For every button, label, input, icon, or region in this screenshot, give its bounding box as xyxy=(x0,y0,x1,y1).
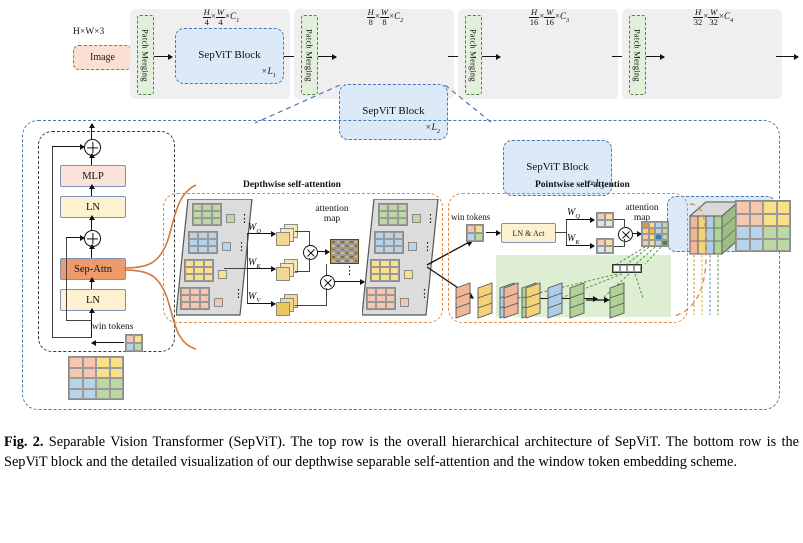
arrow-stage4-output xyxy=(776,56,798,57)
patch-merging-label: Patch Merging xyxy=(469,29,479,82)
dw-token-pink xyxy=(214,298,223,307)
image-input-box: Image xyxy=(73,45,132,70)
figure-caption: Fig. 2. Separable Vision Transformer (Se… xyxy=(4,432,799,473)
pointwise-title: Pointwise self-attention xyxy=(535,180,630,190)
dw-out-window-yellow xyxy=(370,259,400,282)
dw-token-yellow xyxy=(218,270,227,279)
dw-out-token-yellow xyxy=(404,270,413,279)
pw-wq-label: WQ xyxy=(567,207,580,220)
dw-q-to-mul-h xyxy=(295,231,310,232)
dw-arrow-to-v xyxy=(247,303,275,304)
ln-act-box: LN & Act xyxy=(501,223,556,243)
pw-mul-to-attnmap xyxy=(632,233,641,234)
stage-1-dim-label: H4×W4×C1 xyxy=(155,8,287,26)
depthwise-title: Depthwise self-attention xyxy=(243,180,341,190)
pw-k-to-mul-v xyxy=(624,239,625,247)
dw-token-green xyxy=(226,214,235,223)
arrow-stage2-pm-to-block xyxy=(318,56,336,57)
stage-3-patch-merging: Patch Merging xyxy=(465,15,482,95)
arrow-stage3-pm-to-block xyxy=(482,56,500,57)
dw-out-window-green xyxy=(378,203,408,226)
dw-out-token-green xyxy=(412,214,421,223)
pw-wk-label: WK xyxy=(567,233,580,246)
pw-win-tokens-label: win tokens xyxy=(451,212,490,222)
patch-merging-label: Patch Merging xyxy=(633,29,643,82)
residual-skip-outer-bottom xyxy=(52,337,92,338)
pw-weighted-slabs xyxy=(500,280,630,320)
dw-v-to-mul2-h xyxy=(295,305,327,306)
dw-arrow-to-q xyxy=(247,233,275,234)
residual-skip-inner-vertical xyxy=(66,237,67,321)
dw-input-dots-3: ⋮ xyxy=(233,290,244,299)
dw-out-window-pink xyxy=(366,287,396,310)
win-tokens-2x2-block xyxy=(125,334,143,352)
arrow-lnb-to-attn xyxy=(91,278,92,289)
dw-v-to-mul2-v xyxy=(326,288,327,306)
stage-2-patch-merging: Patch Merging xyxy=(301,15,318,95)
dw-mul2-to-output xyxy=(334,281,364,282)
residual-skip-outer-vertical xyxy=(52,146,53,338)
win-tokens-label-block: win tokens xyxy=(92,322,133,332)
pw-win-tokens-2x2 xyxy=(466,224,484,242)
output-window-grid xyxy=(735,200,791,252)
input-dim-label: H×W×3 xyxy=(73,27,104,37)
dw-out-window-blue xyxy=(374,231,404,254)
stage-2-dim-label: H8×W8×C2 xyxy=(319,8,451,26)
dw-window-blue xyxy=(188,231,218,254)
arrow-mlp-to-add xyxy=(91,154,92,165)
arrow-add-to-ln-top xyxy=(91,216,92,230)
dw-output-dots-3: ⋮ xyxy=(419,290,430,299)
dw-output-dots-1: ⋮ xyxy=(425,215,436,224)
dw-mul-to-attnmap xyxy=(317,251,329,252)
dw-arrow-to-k xyxy=(247,268,275,269)
figure-caption-text: Separable Vision Transformer (SepViT). T… xyxy=(4,434,799,470)
residual-skip-inner-bottom xyxy=(66,320,92,321)
dw-attnmap-to-mul2 xyxy=(326,264,327,275)
stage-4-dim-label: H32×W32×C4 xyxy=(647,8,779,26)
residual-skip-inner-top xyxy=(66,237,84,238)
dw-attention-map xyxy=(330,239,359,264)
pw-arrow-to-lnact xyxy=(486,232,500,233)
arrow-stage4-pm-to-block xyxy=(646,56,664,57)
figure-number: Fig. 2. xyxy=(4,434,43,450)
stage-1-sepvit-block: SepViT Block ×L1 xyxy=(175,28,284,84)
stage-1-block-title: SepViT Block xyxy=(176,49,283,61)
dw-window-pink xyxy=(180,287,210,310)
dw-attention-map-label: attentionmap xyxy=(303,205,361,225)
figure-root: H×W×3 Image Patch Merging H4×W4×C1 SepVi… xyxy=(0,0,803,543)
arrow-attn-to-add-bottom xyxy=(91,245,92,258)
arrow-wintokens-into-stream xyxy=(92,342,124,343)
stage-4-patch-merging: Patch Merging xyxy=(629,15,646,95)
dw-input-dots-2: ⋮ xyxy=(236,243,247,252)
pw-qk-multiply xyxy=(618,227,633,242)
pw-attention-map xyxy=(641,221,669,247)
dw-out-token-pink xyxy=(400,298,409,307)
patch-merging-label: Patch Merging xyxy=(141,29,151,82)
stage-3-dim-label: H16×W16×C3 xyxy=(483,8,615,26)
dw-token-blue xyxy=(222,242,231,251)
stage-1-block-repeat: ×L1 xyxy=(261,67,276,79)
dw-k-to-mul-h xyxy=(295,271,310,272)
dw-attn-v-multiply xyxy=(320,275,335,290)
pw-weight-vector xyxy=(612,264,642,273)
dw-attnmap-dots: ⋮ xyxy=(344,267,355,276)
stage-2-block-title: SepViT Block xyxy=(340,105,447,117)
dw-k-to-mul xyxy=(309,258,310,272)
dw-branch-from-input xyxy=(224,268,248,269)
dw-out-token-blue xyxy=(408,242,417,251)
input-window-grid xyxy=(68,356,124,400)
patch-merging-label: Patch Merging xyxy=(305,29,315,82)
dw-q-to-mul xyxy=(309,231,310,245)
arrow-stage1-pm-to-block xyxy=(154,56,172,57)
dw-window-green xyxy=(192,203,222,226)
dw-output-dots-2: ⋮ xyxy=(422,243,433,252)
pw-q-tokens xyxy=(596,212,614,228)
dw-window-yellow xyxy=(184,259,214,282)
pw-k-tokens xyxy=(596,238,614,254)
dw-qk-multiply xyxy=(303,245,318,260)
stage-1-patch-merging: Patch Merging xyxy=(137,15,154,95)
residual-skip-outer-top xyxy=(52,146,84,147)
arrow-add-top-out xyxy=(91,124,92,140)
arrow-ln-to-mlp xyxy=(91,185,92,196)
